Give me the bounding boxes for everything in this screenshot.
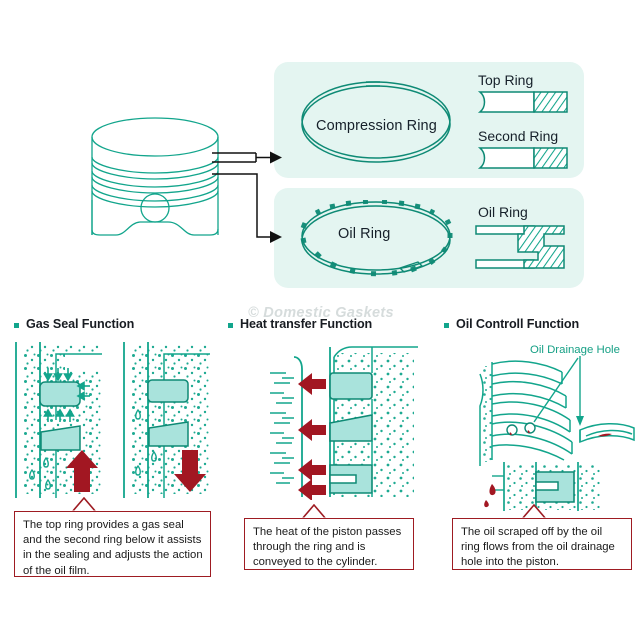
gas-seal-figure: [10, 340, 215, 500]
oil-ring-cross-section: [472, 222, 576, 274]
bullet-oil-control: [444, 323, 449, 328]
oil-control-figure: [470, 356, 640, 511]
caption-heat-transfer: The heat of the piston passes through th…: [244, 518, 414, 570]
section-title-heat-transfer: Heat transfer Function: [240, 317, 372, 331]
oil-drainage-hole-label: Oil Drainage Hole: [530, 344, 620, 356]
caption-oil-control: The oil scraped off by the oil ring flow…: [452, 518, 632, 570]
connector-oil: [212, 171, 288, 253]
oil-ring-label: Oil Ring: [338, 226, 390, 242]
second-ring-label: Second Ring: [478, 128, 558, 144]
oil-ring-xsec-label: Oil Ring: [478, 204, 528, 220]
diagram-canvas: Compression Ring Oil Ring Top Ring: [0, 0, 640, 640]
top-ring-cross-section: [476, 90, 570, 114]
section-title-oil-control: Oil Controll Function: [456, 317, 579, 331]
heat-transfer-figure: [268, 345, 438, 500]
compression-ring-label: Compression Ring: [316, 118, 437, 134]
bullet-gas-seal: [14, 323, 19, 328]
top-ring-label: Top Ring: [478, 72, 533, 88]
section-title-gas-seal: Gas Seal Function: [26, 317, 134, 331]
bullet-heat-transfer: [228, 323, 233, 328]
caption-gas-seal: The top ring provides a gas seal and the…: [14, 511, 211, 577]
second-ring-cross-section: [476, 146, 570, 170]
